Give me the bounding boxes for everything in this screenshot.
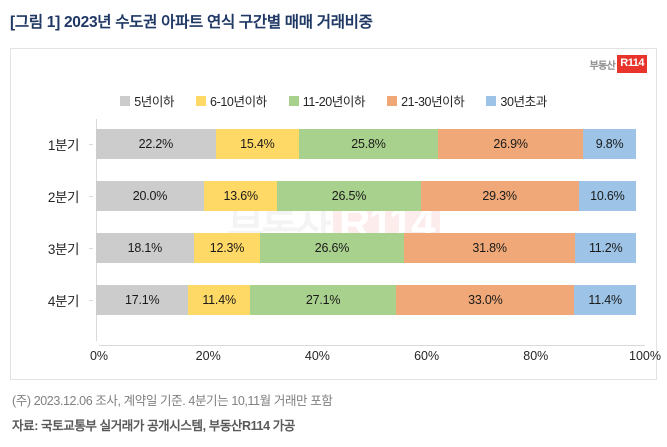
bar-segment[interactable]: 15.4% (216, 129, 299, 159)
brand-logo-text: 부동산 (589, 57, 615, 72)
bar-segment[interactable]: 12.3% (194, 233, 260, 263)
bar-segment[interactable]: 20.0% (96, 181, 204, 211)
bar-segment[interactable]: 11.4% (188, 285, 250, 315)
chart-frame: 부동산 R114 부동산 R114 5년이하6-10년이하11-20년이하21-… (10, 48, 657, 380)
footnote-note: (주) 2023.12.06 조사, 계약일 기준. 4분기는 10,11월 거… (12, 390, 332, 409)
legend-swatch-icon (120, 96, 130, 106)
page-title: [그림 1] 2023년 수도권 아파트 연식 구간별 매매 거래비중 (10, 10, 373, 32)
bar-segment[interactable]: 17.1% (96, 285, 188, 315)
stacked-bar: 20.0%13.6%26.5%29.3%10.6% (96, 181, 636, 211)
bar-segment[interactable]: 25.8% (299, 129, 438, 159)
category-label: 3분기 (11, 238, 89, 258)
x-axis-tick-label: 100% (629, 349, 661, 363)
bar-segment[interactable]: 22.2% (96, 129, 216, 159)
axis-tick-mark (89, 144, 93, 145)
bar-segment[interactable]: 27.1% (250, 285, 396, 315)
stacked-bar: 22.2%15.4%25.8%26.9%9.8% (96, 129, 636, 159)
footnote-source: 자료: 국토교통부 실거래가 공개시스템, 부동산R114 가공 (12, 415, 295, 434)
legend-item[interactable]: 6-10년이하 (196, 91, 267, 110)
legend-item[interactable]: 30년초과 (486, 91, 546, 110)
bar-segment[interactable]: 31.8% (404, 233, 576, 263)
legend-swatch-icon (486, 96, 496, 106)
legend-item-label: 5년이하 (134, 91, 174, 110)
legend-swatch-icon (289, 96, 299, 106)
axis-tick-mark (89, 300, 93, 301)
legend-swatch-icon (196, 96, 206, 106)
chart-bar-row: 3분기18.1%12.3%26.6%31.8%11.2% (11, 233, 658, 263)
plot-area: 1분기22.2%15.4%25.8%26.9%9.8%2분기20.0%13.6%… (11, 119, 658, 349)
category-label: 2분기 (11, 186, 89, 206)
bar-segment[interactable]: 26.9% (438, 129, 583, 159)
bar-segment[interactable]: 11.2% (575, 233, 635, 263)
bar-segment[interactable]: 10.6% (579, 181, 636, 211)
legend-item-label: 21-30년이하 (401, 91, 464, 110)
bar-segment[interactable]: 9.8% (583, 129, 636, 159)
bar-segment[interactable]: 26.5% (277, 181, 420, 211)
stacked-bar: 18.1%12.3%26.6%31.8%11.2% (96, 233, 636, 263)
legend-swatch-icon (387, 96, 397, 106)
axis-tick-mark (89, 196, 93, 197)
bar-segment[interactable]: 13.6% (204, 181, 277, 211)
brand-logo-badge: R114 (617, 55, 647, 73)
bar-segment[interactable]: 18.1% (96, 233, 194, 263)
legend-item[interactable]: 21-30년이하 (387, 91, 464, 110)
brand-logo: 부동산 R114 (589, 55, 647, 73)
legend-item-label: 6-10년이하 (210, 91, 267, 110)
chart-bar-row: 2분기20.0%13.6%26.5%29.3%10.6% (11, 181, 658, 211)
bar-segment[interactable]: 11.4% (574, 285, 636, 315)
category-label: 4분기 (11, 290, 89, 310)
legend-item[interactable]: 5년이하 (120, 91, 174, 110)
chart-legend: 5년이하6-10년이하11-20년이하21-30년이하30년초과 (11, 91, 656, 110)
category-label: 1분기 (11, 134, 89, 154)
x-axis-tick-label: 40% (305, 349, 330, 363)
chart-bar-row: 1분기22.2%15.4%25.8%26.9%9.8% (11, 129, 658, 159)
bar-segment[interactable]: 26.6% (260, 233, 404, 263)
bar-segment[interactable]: 33.0% (396, 285, 574, 315)
stacked-bar: 17.1%11.4%27.1%33.0%11.4% (96, 285, 636, 315)
legend-item-label: 11-20년이하 (303, 91, 365, 110)
axis-tick-mark (89, 248, 93, 249)
x-axis-tick-label: 0% (90, 349, 108, 363)
bar-segment[interactable]: 29.3% (421, 181, 579, 211)
legend-item[interactable]: 11-20년이하 (289, 91, 365, 110)
x-axis-tick-label: 60% (414, 349, 439, 363)
x-axis-tick-label: 80% (523, 349, 548, 363)
chart-bar-row: 4분기17.1%11.4%27.1%33.0%11.4% (11, 285, 658, 315)
legend-item-label: 30년초과 (500, 91, 546, 110)
x-axis-tick-label: 20% (196, 349, 221, 363)
x-axis-labels: 0%20%40%60%80%100% (99, 349, 645, 371)
